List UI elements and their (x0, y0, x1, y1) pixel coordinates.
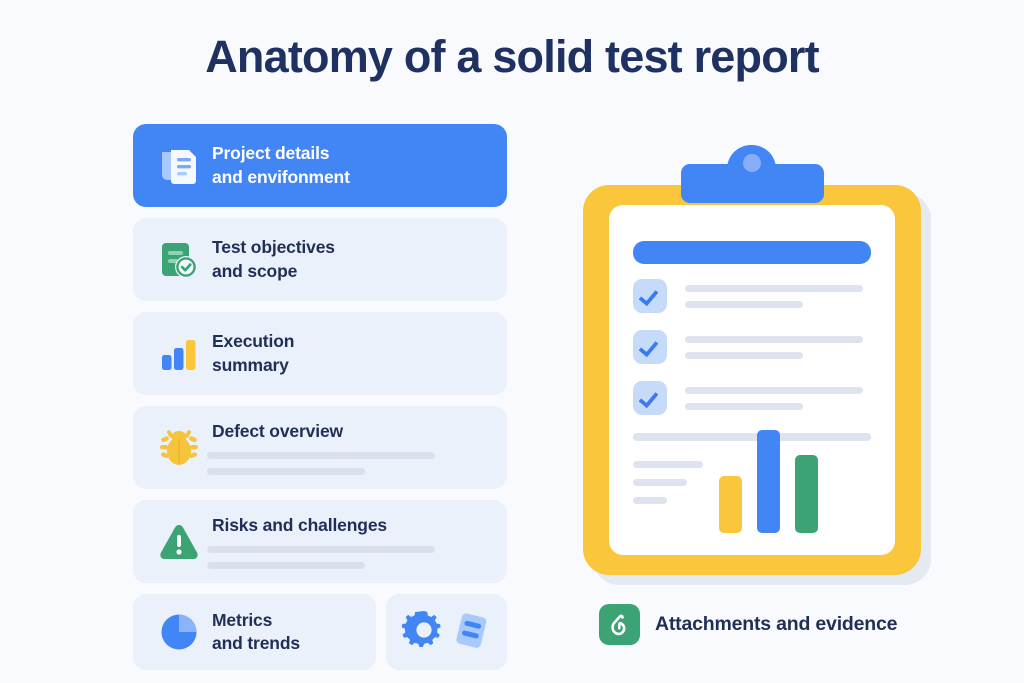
chart-bar-blue (757, 430, 780, 533)
checklist-row[interactable] (633, 381, 863, 415)
placeholder-line (685, 352, 803, 359)
placeholder-line (685, 403, 803, 410)
list-item-text-block: Execution summary (207, 330, 294, 376)
placeholder-line (633, 479, 687, 486)
list-item-line2: and scope (207, 260, 335, 283)
placeholder-line (207, 562, 365, 569)
list-item-settings-document[interactable] (386, 594, 507, 670)
list-item-line2: and trends (207, 632, 300, 655)
page-header-bar (633, 241, 871, 264)
attachments-label: Attachments and evidence (655, 613, 897, 636)
list-item-defect-overview[interactable]: Defect overview (133, 406, 507, 489)
list-item-risks-and-challenges[interactable]: Risks and challenges (133, 500, 507, 583)
placeholder-line (633, 461, 703, 468)
placeholder-line (207, 546, 435, 553)
chart-bar-green (795, 455, 818, 533)
placeholder-line (207, 468, 365, 475)
list-item-metrics-and-trends[interactable]: Metrics and trends (133, 594, 376, 670)
placeholder-line (633, 497, 667, 504)
list-item-line2: and envifonment (207, 166, 350, 189)
checkbox-checked-icon[interactable] (633, 279, 667, 313)
clipboard-illustration (575, 131, 945, 586)
placeholder-line (685, 301, 803, 308)
bar-chart-icon (151, 334, 207, 374)
placeholder-line (685, 336, 863, 343)
checklist-row[interactable] (633, 279, 863, 313)
placeholder-line (685, 387, 863, 394)
summary-text-placeholder (633, 461, 703, 515)
report-sections-list: Project details and envifonment Test obj… (133, 124, 507, 670)
warning-triangle-icon (151, 521, 207, 563)
list-item-text-block: Metrics and trends (207, 609, 300, 655)
checkbox-checked-icon[interactable] (633, 330, 667, 364)
list-item-project-details[interactable]: Project details and envifonment (133, 124, 507, 207)
checklist-row[interactable] (633, 330, 863, 364)
list-item-line1: Metrics (207, 609, 300, 632)
placeholder-line (207, 452, 435, 459)
row-text-placeholder (685, 285, 863, 308)
list-item-test-objectives[interactable]: Test objectives and scope (133, 218, 507, 301)
mini-bar-chart (719, 413, 849, 533)
clipboard-clip-hole-icon (743, 154, 761, 172)
attachments-row[interactable]: Attachments and evidence (599, 604, 897, 645)
document-tilted-icon (450, 607, 492, 658)
list-item-text-block: Project details and envifonment (207, 142, 350, 188)
chart-bar-yellow (719, 476, 742, 533)
page-title: Anatomy of a solid test report (0, 31, 1024, 83)
bug-icon (151, 425, 207, 471)
pie-chart-icon (151, 611, 207, 653)
list-item-line1: Execution (207, 330, 294, 353)
list-item-line1: Test objectives (207, 236, 335, 259)
document-check-icon (151, 238, 207, 282)
paperclip-icon (599, 604, 640, 645)
list-item-text-block: Test objectives and scope (207, 236, 335, 282)
row-text-placeholder (685, 387, 863, 410)
placeholder-line (685, 285, 863, 292)
clipboard-board (583, 185, 921, 575)
bottom-cards-row: Metrics and trends (133, 594, 507, 670)
list-item-text-block: Risks and challenges (207, 514, 435, 569)
gear-icon (401, 607, 447, 658)
row-text-placeholder (685, 336, 863, 359)
list-item-line1: Risks and challenges (207, 514, 435, 537)
document-lines-icon (151, 144, 207, 188)
list-item-execution-summary[interactable]: Execution summary (133, 312, 507, 395)
list-item-text-block: Defect overview (207, 420, 435, 475)
list-item-line1: Project details (207, 142, 350, 165)
list-item-line2: summary (207, 354, 294, 377)
list-item-line1: Defect overview (207, 420, 435, 443)
clipboard-page (609, 205, 895, 555)
checkbox-checked-icon[interactable] (633, 381, 667, 415)
